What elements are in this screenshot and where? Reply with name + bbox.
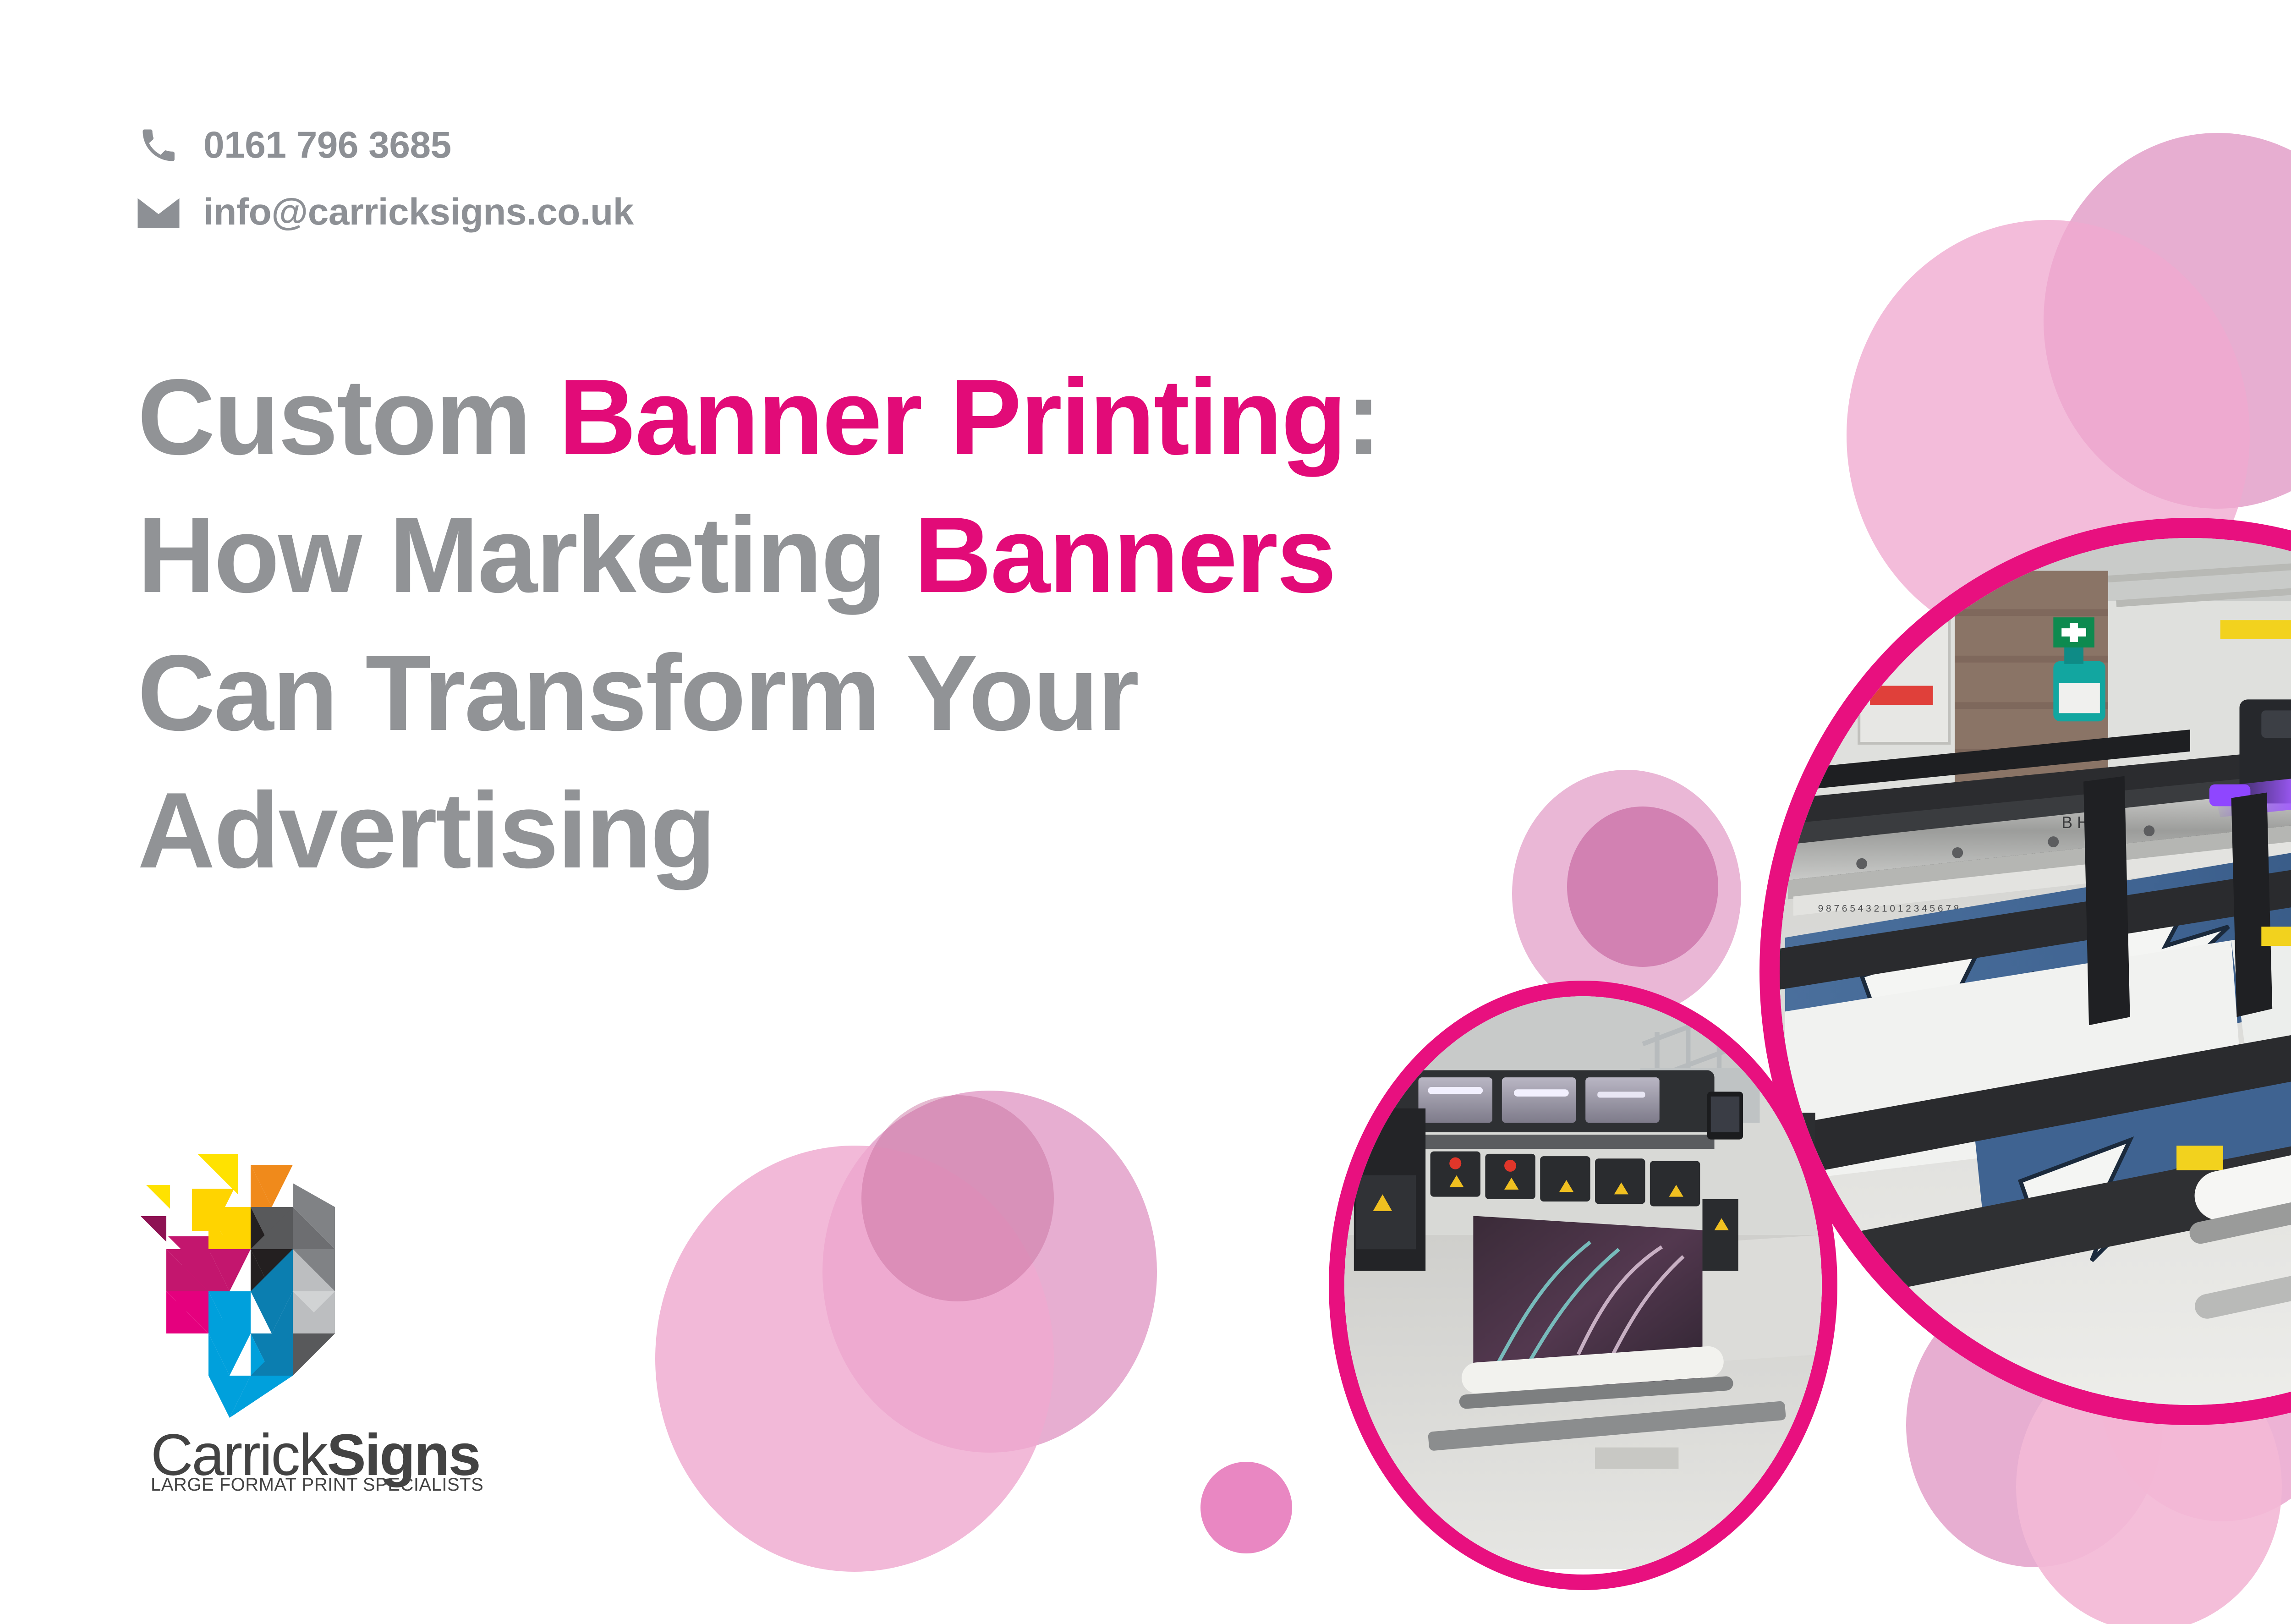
logo-tagline: LARGE FORMAT PRINT SPECIALISTS xyxy=(151,1476,483,1494)
contact-row-email[interactable]: info@carricksigns.co.uk xyxy=(137,191,634,234)
photo-roll-printer xyxy=(1329,981,1837,1590)
carrick-signs-logo[interactable]: CarrickSigns LARGE FORMAT PRINT SPECIALI… xyxy=(126,1141,447,1540)
decor-circle xyxy=(861,1095,1054,1301)
headline-seg-banners: Banners xyxy=(914,494,1335,615)
decor-circle xyxy=(655,1146,1054,1572)
page-title: Custom Banner Printing: How Marketing Ba… xyxy=(137,348,1604,900)
headline-seg-banner-printing: Banner Printing xyxy=(559,357,1346,477)
decor-circle xyxy=(822,1091,1157,1453)
decor-circle xyxy=(2044,133,2291,509)
phone-icon xyxy=(137,124,187,166)
contact-block: 0161 796 3685 info@carricksigns.co.uk xyxy=(137,124,634,258)
envelope-icon xyxy=(137,191,187,233)
phone-number: 0161 796 3685 xyxy=(203,124,451,167)
headline-line-1: Custom Banner Printing: xyxy=(137,348,1604,486)
headline-seg-how-marketing: How Marketing xyxy=(137,494,914,615)
headline-line-3: Can Transform Your xyxy=(137,624,1604,762)
photo-flatbed-printer: 9 8 7 6 5 4 3 2 1 0 1 2 3 4 5 6 7 8 JETR… xyxy=(1759,518,2291,1425)
contact-row-phone[interactable]: 0161 796 3685 xyxy=(137,124,634,167)
headline-line-2: How Marketing Banners xyxy=(137,486,1604,624)
decor-circle xyxy=(1200,1462,1292,1553)
headline-line-4: Advertising xyxy=(137,762,1604,900)
banner-artwork: 0161 796 3685 info@carricksigns.co.uk Cu… xyxy=(0,0,2291,1624)
logo-wordmark: CarrickSigns LARGE FORMAT PRINT SPECIALI… xyxy=(135,1426,447,1513)
headline-seg-custom: Custom xyxy=(137,357,559,477)
flatbed-printer-illustration: 9 8 7 6 5 4 3 2 1 0 1 2 3 4 5 6 7 8 JETR… xyxy=(1780,538,2291,1414)
email-address: info@carricksigns.co.uk xyxy=(203,191,634,234)
headline-seg-colon: : xyxy=(1346,357,1380,477)
roll-printer-illustration xyxy=(1344,996,1822,1569)
carrick-cube-logo-icon xyxy=(126,1141,383,1434)
